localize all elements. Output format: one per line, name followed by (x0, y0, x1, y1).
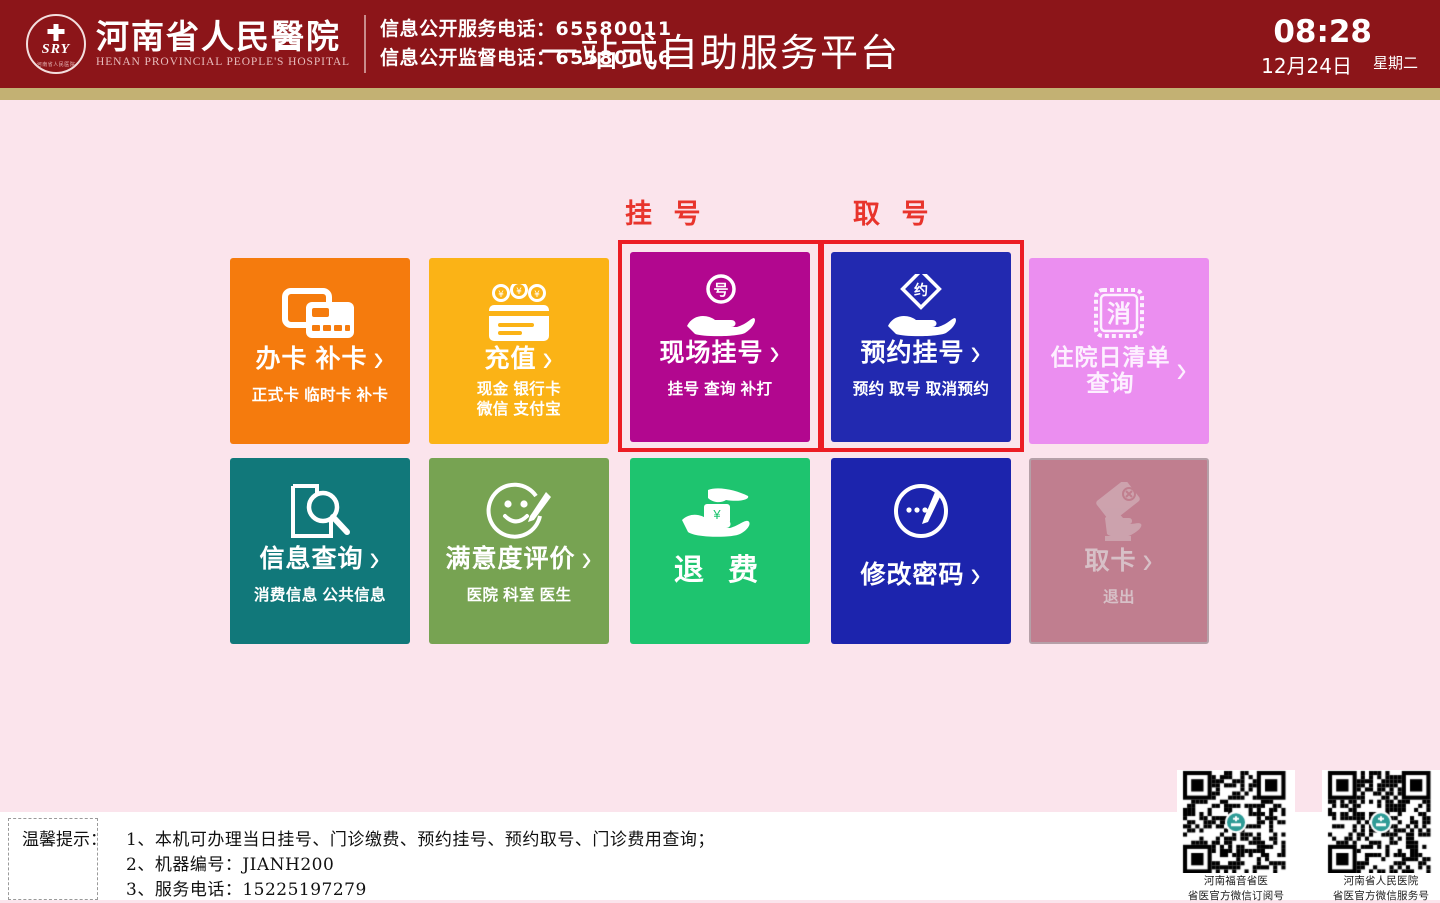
qr-caption-line1: 河南省人民医院 (1322, 875, 1440, 888)
svg-text:¥: ¥ (516, 287, 522, 297)
tile-title-text: 信息查询 (259, 545, 363, 574)
tile-title: 住院日清单 查询 › (1051, 344, 1188, 397)
tile-title: 满意度评价 › (445, 544, 592, 574)
svg-text:消: 消 (1107, 301, 1131, 328)
qr-image (1177, 770, 1295, 873)
clock-widget: 08:28 12月24日 星期二 (1184, 14, 1424, 78)
qr-caption-line2: 省医官方微信服务号 (1322, 890, 1440, 903)
hand-money-icon: ¥ (630, 458, 810, 544)
tile-info-query[interactable]: 信息查询 › 消费信息 公共信息 (230, 458, 410, 644)
chevron-right-icon: › (370, 540, 381, 578)
notice-line-1: 1、本机可办理当日挂号、门诊缴费、预约挂号、预约取号、门诊费用查询； (126, 828, 715, 853)
smiley-pencil-icon (429, 458, 609, 544)
eject-card-icon (1031, 460, 1207, 546)
tile-onsite-registration[interactable]: 号 现场挂号 › 挂号 查询 补打 (630, 252, 810, 442)
tile-title: 修改密码 › (860, 560, 981, 590)
qr-code-subscription: 河南福音省医 省医官方微信订阅号 (1177, 770, 1295, 903)
svg-text:¥: ¥ (498, 290, 504, 300)
chevron-right-icon: › (971, 556, 982, 594)
circle-pencil-icon (831, 458, 1011, 544)
tile-subtitle: 预约 取号 取消预约 (853, 380, 990, 400)
clock-weekday: 星期二 (1373, 52, 1418, 73)
tile-title-text: 现场挂号 (659, 339, 763, 368)
tile-title-text: 满意度评价 (445, 545, 575, 574)
hand-appointment-icon: 约 (831, 252, 1011, 338)
svg-text:¥: ¥ (712, 507, 721, 522)
tile-change-password[interactable]: 修改密码 › (831, 458, 1011, 644)
tile-subtitle: 医院 科室 医生 (467, 586, 572, 606)
section-label-ticket-pickup: 取 号 (853, 192, 936, 231)
tile-title: 退 费 (674, 554, 766, 589)
tile-title-line1: 住院日清单 (1051, 344, 1171, 370)
tile-title: 信息查询 › (259, 544, 380, 574)
tile-title-text: 充值 (484, 345, 536, 374)
qr-image (1322, 770, 1440, 873)
notice-line-3: 3、服务电话：15225197279 (126, 878, 367, 903)
tile-title-text: 退 费 (674, 554, 766, 589)
tile-title: 取卡 › (1084, 546, 1153, 576)
tile-subtitle: 消费信息 公共信息 (254, 586, 386, 606)
tile-recharge[interactable]: ¥ ¥ ¥ 充值 › 现金 银行卡 微信 支付宝 (429, 258, 609, 444)
chevron-right-icon: › (1177, 352, 1188, 390)
tile-refund[interactable]: ¥ 退 费 (630, 458, 810, 644)
tile-title: 充值 › (484, 344, 553, 374)
section-label-registration: 挂 号 (625, 192, 708, 231)
qr-caption-line2: 省医官方微信订阅号 (1177, 890, 1295, 903)
tile-card-service[interactable]: 办卡 补卡 › 正式卡 临时卡 补卡 (230, 258, 410, 444)
document-search-icon (230, 458, 410, 544)
header-gold-stripe (0, 88, 1440, 100)
tile-title-text: 办卡 补卡 (256, 345, 368, 374)
chevron-right-icon: › (1143, 542, 1154, 580)
clock-time: 08:28 (1273, 14, 1372, 50)
chevron-right-icon: › (543, 340, 554, 378)
tile-title-text: 修改密码 (860, 561, 964, 590)
chevron-right-icon: › (971, 334, 982, 372)
notice-spacer (22, 853, 126, 878)
tile-title-text: 取卡 (1084, 547, 1136, 576)
tile-title-line2: 查询 (1087, 370, 1135, 396)
tile-eject-card[interactable]: 取卡 › 退出 (1029, 458, 1209, 644)
tile-title: 办卡 补卡 › (256, 344, 385, 374)
svg-text:¥: ¥ (534, 290, 540, 300)
svg-text:约: 约 (914, 282, 928, 298)
notice-line-2: 2、机器编号：JIANH200 (126, 853, 334, 878)
tile-appointment-registration[interactable]: 约 预约挂号 › 预约 取号 取消预约 (831, 252, 1011, 442)
tile-inpatient-daily-bill[interactable]: 消 住院日清单 查询 › (1029, 258, 1209, 444)
chevron-right-icon: › (582, 540, 593, 578)
clock-date: 12月24日 (1261, 50, 1352, 79)
notice-block: 温馨提示： 1、本机可办理当日挂号、门诊缴费、预约挂号、预约取号、门诊费用查询；… (22, 828, 715, 903)
tile-subtitle: 正式卡 临时卡 补卡 (252, 386, 389, 406)
notice-spacer (22, 878, 126, 903)
tile-satisfaction-survey[interactable]: 满意度评价 › 医院 科室 医生 (429, 458, 609, 644)
qr-code-service: 河南省人民医院 省医官方微信服务号 (1322, 770, 1440, 903)
svg-text:号: 号 (713, 282, 728, 299)
tile-subtitle-line2: 微信 支付宝 (477, 400, 561, 420)
tile-subtitle-line1: 现金 银行卡 (477, 380, 561, 400)
notice-label: 温馨提示： (22, 828, 126, 853)
card-coins-icon: ¥ ¥ ¥ (429, 258, 609, 344)
tile-title: 预约挂号 › (860, 338, 981, 368)
tile-title: 现场挂号 › (659, 338, 780, 368)
chevron-right-icon: › (770, 334, 781, 372)
qr-caption-line1: 河南福音省医 (1177, 875, 1295, 888)
tile-subtitle: 退出 (1103, 588, 1135, 608)
chevron-right-icon: › (373, 340, 384, 378)
two-cards-icon (230, 258, 410, 344)
tile-subtitle: 挂号 查询 补打 (668, 380, 773, 400)
tile-title-text: 预约挂号 (860, 339, 964, 368)
consume-seal-icon: 消 (1029, 258, 1209, 344)
hand-number-icon: 号 (630, 252, 810, 338)
